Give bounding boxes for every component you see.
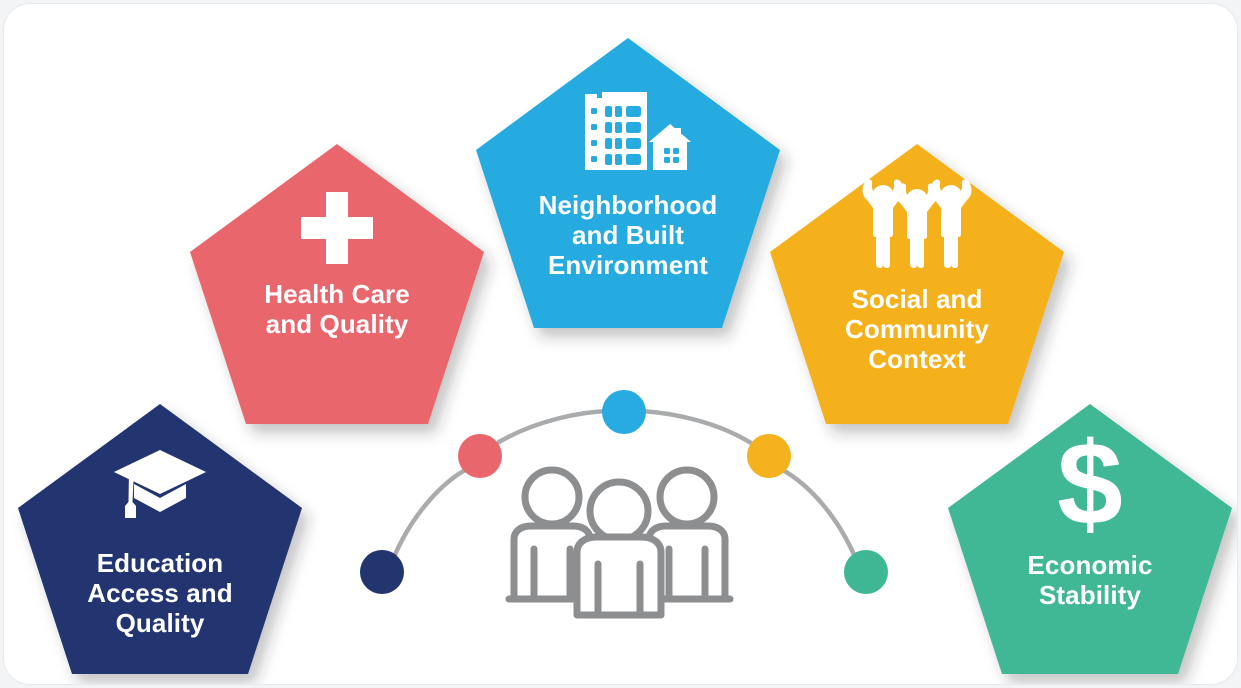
pentagon-shape-education: [18, 404, 302, 674]
group-of-people-icon: [509, 470, 730, 615]
domain-card-economic[interactable]: $ Economic Stability: [942, 398, 1237, 680]
infographic-canvas: Education Access and Quality Health Care…: [4, 4, 1237, 684]
dot-neighborhood: [602, 390, 646, 434]
infographic-stage: Education Access and Quality Health Care…: [0, 0, 1241, 688]
domain-card-education[interactable]: Education Access and Quality: [12, 398, 308, 680]
domain-card-healthcare[interactable]: Health Care and Quality: [184, 138, 490, 430]
dot-economic: [844, 550, 888, 594]
pentagon-shape-social: [770, 144, 1064, 424]
pentagon-shape-economic: [948, 404, 1232, 674]
dot-education: [360, 550, 404, 594]
domain-card-neighborhood[interactable]: Neighborhood and Built Environment: [470, 32, 786, 334]
domain-card-social[interactable]: Social and Community Context: [764, 138, 1070, 430]
dot-healthcare: [458, 434, 502, 478]
pentagon-shape-healthcare: [190, 144, 484, 424]
pentagon-shape-neighborhood: [476, 38, 780, 328]
dot-social: [747, 434, 791, 478]
